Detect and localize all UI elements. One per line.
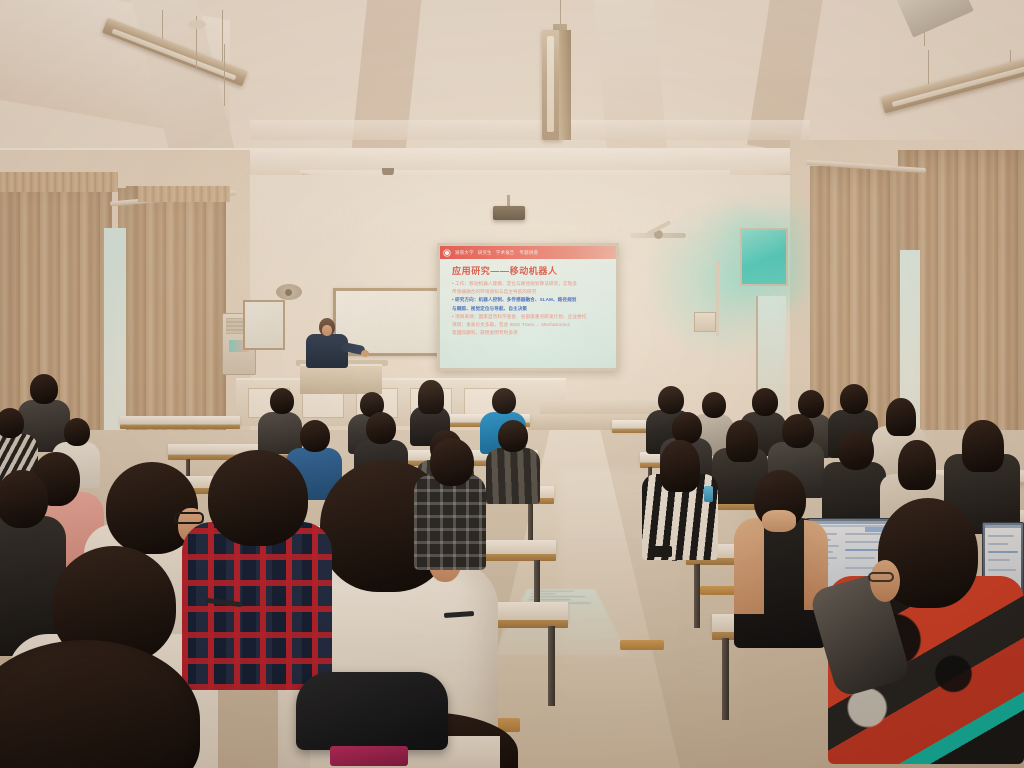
slide-line: 传感器融合的环境感知与自主导航的研究 (452, 288, 608, 296)
slide-banner: 湖南大学 研究生 学术报告 · 专题讲座 (440, 246, 616, 259)
banner-text-right: 学术报告 · 专题讲座 (496, 250, 538, 256)
desk-leg (722, 638, 729, 720)
banner-text-left: 湖南大学 (455, 250, 474, 256)
desk-edge (120, 425, 240, 429)
ceiling-projector (493, 206, 525, 220)
curtain-valance (138, 186, 230, 202)
window-glass (104, 228, 126, 440)
slide-line: • 项目来源：国家自然科学基金、省部级重点研发计划、企业委托 (452, 313, 608, 321)
classroom-photo: 湖南大学 研究生 学术报告 · 专题讲座 应用研究——移动机器人 • 工作：移动… (0, 0, 1024, 768)
chair-back (620, 640, 664, 650)
desk-leg (548, 626, 555, 706)
wall-conduit (716, 262, 719, 336)
banner-text-mid: 研究生 (478, 250, 492, 256)
lecturer-face (322, 325, 332, 336)
wall-outlet-panel[interactable] (694, 312, 716, 332)
phone[interactable] (652, 546, 672, 557)
black-backpack (296, 672, 448, 750)
university-seal-logo (443, 249, 451, 257)
curtain-valance (0, 172, 118, 192)
lecturer-torso (306, 334, 348, 368)
eyeglasses-icon (868, 572, 894, 582)
wall-fan-hub (285, 289, 292, 296)
slide-line: 与跟踪、视觉定位与导航、自主决策 (452, 305, 608, 313)
whiteboard-secondary (243, 300, 285, 350)
slide-line: • 研究方向：机器人控制、多传感器融合、SLAM、路径规划 (452, 296, 608, 304)
slide-body: • 工作：移动机器人建模、定位与路径规划算法研究，实现多 传感器融合的环境感知与… (452, 280, 608, 337)
pink-folder (330, 746, 408, 766)
eyeglasses-icon (174, 512, 204, 524)
slide-line: • 工作：移动机器人建模、定位与路径规划算法研究，实现多 (452, 280, 608, 288)
slide-title: 应用研究——移动机器人 (452, 264, 558, 277)
stage-step (540, 400, 660, 414)
desk-leg (694, 564, 700, 628)
slide-line: 项目；发表论文多篇，包含 IEEE Trans. 、Mechatronics (452, 321, 608, 329)
water-bottle (704, 486, 713, 502)
podium (300, 364, 382, 394)
presentation-slide: 湖南大学 研究生 学术报告 · 专题讲座 应用研究——移动机器人 • 工作：移动… (440, 246, 616, 368)
projector-screen: 湖南大学 研究生 学术报告 · 专题讲座 应用研究——移动机器人 • 工作：移动… (437, 243, 619, 371)
transom-window (740, 228, 788, 286)
slide-line: 等国际期刊，获授发明专利多项 (452, 329, 608, 337)
lecturer-hand (361, 350, 369, 357)
